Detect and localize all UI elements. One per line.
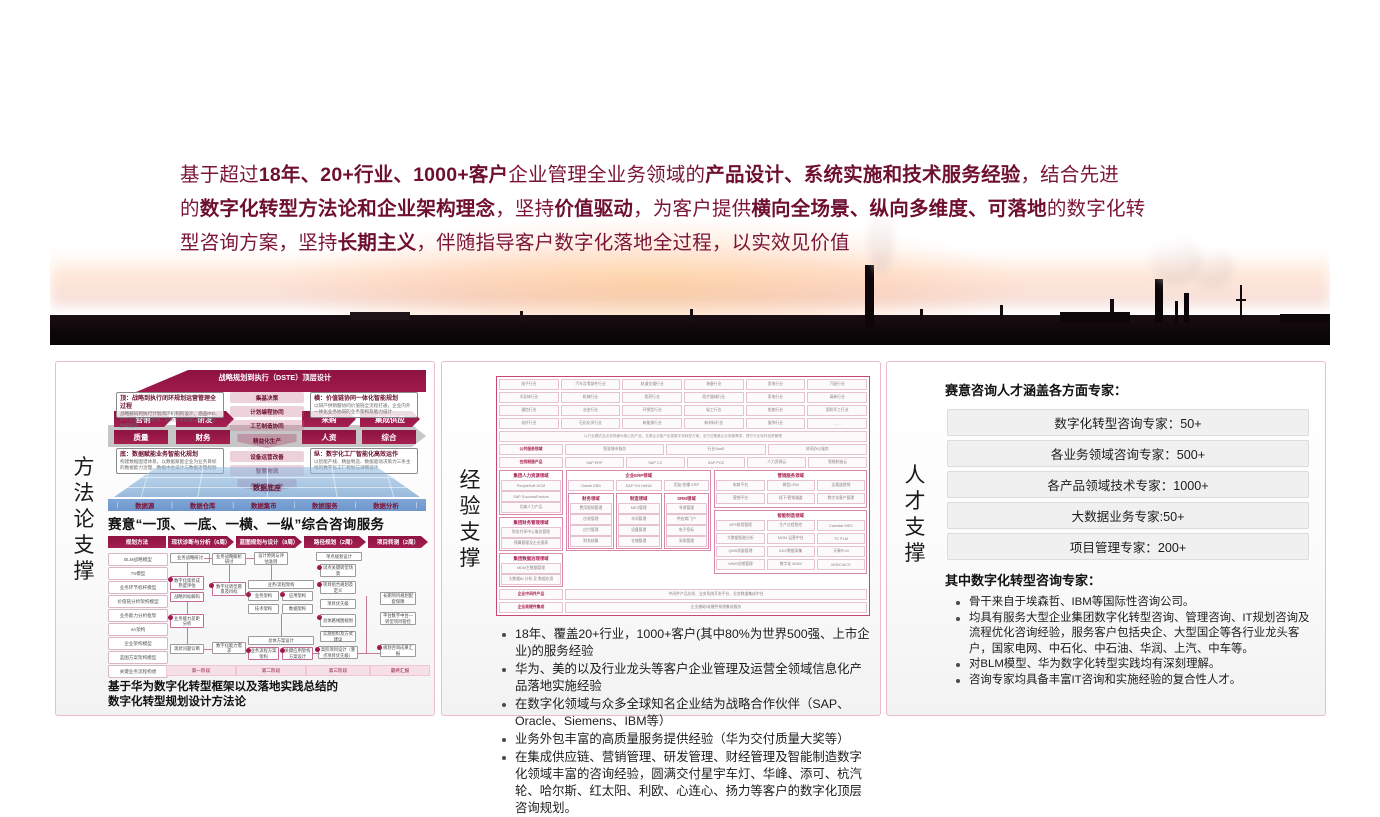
flow-marker-dot [280,648,285,653]
phase-header-roadmap: 路径规划（2周） [304,536,366,548]
method-item: 业务能力分析框架 [108,609,168,622]
hero-banner: 基于超过18年、20+行业、1000+客户企业管理全业务领域的产品设计、系统实施… [50,100,1330,345]
flow-marker-dot [168,577,173,582]
matrix-cell: MOM WCS [817,559,865,570]
flow-node: 业务/流程架构 [248,580,314,589]
matrix-cell: 行业SaaS [666,444,765,455]
matrix-cell: 仓储管理 [618,536,660,547]
talent-bullet-list: 骨干来自于埃森哲、IBM等国际性咨询公司。 均具有服务大型企业集团数字化转型咨询… [953,595,1317,688]
matrix-cell: SAP ERP [565,457,624,468]
list-item: 在集成供应链、营销管理、研发管理、财经管理及智能制造数字化领域丰富的咨询经验，圆… [498,749,872,817]
matrix-cell: EDC数据采集 [767,546,815,557]
row-label: 企业中间件产品 [499,589,563,600]
group-finance: 集团财务管理领域 财务共享中心服务管理 预算管理及企业报表 [499,517,563,551]
panel-experience-side-label: 经 验 支 撑 [448,467,492,571]
method-item: 业务环节标杆模型 [108,581,168,594]
industry-cell: 环保型行业 [622,405,682,416]
flow-node: 设计原则与评估准则 [254,552,288,565]
pill-decision: 集基决策 [230,392,304,403]
flow-node: 业务能力差距分析 [170,614,204,628]
flow-node: 总体路线图规划 [320,614,356,627]
matrix-cell: 应收管理 [570,514,612,525]
matrix-cell: 寻源管理 [666,503,708,514]
flow-node: 数字化能力需求 [212,642,246,654]
flow-marker-dot [280,592,285,597]
matrix-cell: SAP S/4 HANA [616,480,662,491]
panel-methodology-body: 战略规划到执行（DSTE）顶层设计 营销 研发 质量 财务 采购 集成供应 人资… [108,368,426,709]
matrix-cell: 微信CRM [767,480,815,491]
industrial-skyline-silhouette [50,283,1330,345]
matrix-cell: 中间件产品总线、业务系统开发平台、业务数据集成中台 [565,589,867,600]
matrix-cell: Camstar MES [817,520,865,531]
industry-cell: 通信行业 [499,405,559,416]
box-quality: 质量 [114,430,168,444]
panel-talent-side-label: 人 才 支 撑 [893,462,937,566]
stat-box-pm-experts: 项目管理专家：200+ [947,533,1309,560]
matrix-cell: 电商平台 [716,480,764,491]
data-capability-bar: |数据源 |数据仓库 |数据集市 |数据服务 |数据分析| [108,499,426,511]
planning-flow-diagram: 规划方法 现状诊断与分析（6周） 蓝图规划与设计（8周） 路径规划（2周） 项目… [108,536,426,676]
group-hr: 集团人力资源领域 PeopleSoft HCM SAP SuccessFacto… [499,470,563,515]
method-item: 蓝图方案架构模型 [108,651,168,664]
industry-cell: 轨道交通行业 [622,379,682,390]
list-item: 18年、覆盖20+行业，1000+客户(其中80%为世界500强、上市企业)的服… [498,626,872,660]
list-item: 咨询专家均具备丰富IT咨询和实施经验的复合性人才。 [953,673,1317,689]
flow-node: 业务架构 [248,591,279,601]
flow-marker-dot [315,647,320,652]
milestone-bar: 第二阶段 [236,665,306,676]
matrix-cell: 数字化 MOM [767,559,815,570]
hero-line-3: 型咨询方案，坚持长期主义，伴随指导客户数字化落地全过程，以实效见价值 [180,226,1190,260]
row-label: 公共服务领域 [499,444,563,455]
method-item: 关键业务流程构想 [108,665,168,678]
methodology-caption-1: 赛意“一顶、一底、一横、一纵”综合咨询服务 [108,513,426,533]
panel-talent: 人 才 支 撑 赛意咨询人才涵盖各方面专家： 数字化转型咨询专家：50+ 各业务… [886,361,1326,716]
matrix-cell: SAP SuccessFactors [501,491,561,502]
matrix-cell: MOM 运营中台 [767,533,815,544]
list-item: 华为、美的以及行业龙头等客户企业管理及运营全领域信息化产品落地实施经验 [498,661,872,695]
matrix-cell: 大数据BI 分析 及 数据应用 [501,574,561,585]
stat-box-product-tech-experts: 各产品领域技术专家：1000+ [947,471,1309,498]
flow-node: 规划咨询成果汇报 [380,644,416,657]
flow-marker-dot [317,615,322,620]
experience-bullet-list: 18年、覆盖20+行业，1000+客户(其中80%为世界500强、上市企业)的服… [498,626,872,817]
data-platform-label: 数据底座 [253,483,281,493]
flow-node: 现状问题诊断 [170,644,204,654]
matrix-cell: 预算管理及企业报表 [501,538,561,549]
flow-node: 应用架构 [282,591,313,601]
industry-cell: 国防军工行业 [807,405,867,416]
list-item: 业务外包丰富的高质量服务提供经验（华为交付质量大奖等） [498,731,872,748]
method-item: 7S模型 [108,567,168,580]
matrix-cell: 北森人力产品 [501,502,561,513]
row-label: 在线制造产品 [499,457,563,468]
flow-node: 试点关键转型场景 [320,564,356,577]
industry-cell: 化纤行业 [499,418,559,429]
data-platform-base: 数据底座 |数据源 |数据仓库 |数据集市 |数据服务 |数据分析| [108,467,426,511]
list-item: 在数字化领域与众多全球知名企业结为战略合作伙伴（SAP、Oracle、Sieme… [498,696,872,730]
flow-marker-dot [317,565,322,570]
flow-marker-dot [246,648,251,653]
milestone-bar: 第一阶段 [166,665,236,676]
matrix-cell: QMS质量管理 [716,546,764,557]
flow-node: 实施组织及方式建议 [320,631,356,642]
group-data-governance: 集团数据治理领域 MDM主数据管理 大数据BI 分析 及 数据应用 [499,553,563,587]
flow-node: 业务战略解析研讨 [212,553,246,565]
matrix-cell: 费用报销管理 [570,503,612,514]
data-item-analysis: 数据分析 [373,501,399,510]
flow-marker-dot [168,615,173,620]
milestone-bar: 最终汇报 [370,665,430,676]
flow-node: 项目优先级 [320,599,356,609]
note-top-left: 顶：战略到执行闭环规划运营管理全过程 战略解码到执行计划闭环机制的设计，涵盖IP… [116,392,224,418]
group-finance-domain: 财务领域 费用报销管理 应收管理 应付管理 财务核算 [568,493,614,549]
talent-heading-2: 其中数字化转型咨询专家： [945,570,1317,589]
matrix-cell: 生产过程智控 [767,520,815,531]
data-item-source: 数据源 [135,501,154,510]
matrix-cell: 全渠道营销 [817,480,865,491]
methodology-caption-2: 基于华为数字化转型框架以及落地实践总结的 数字化转型规划设计方法论 [108,680,426,710]
group-erp: 企业ERP领域 Oracle EBS SAP S/4 HANA 用友/金蝶 ER… [566,470,711,551]
industry-cell: 医药行业 [622,392,682,403]
flow-node: 高阶项目设计（重点项目优先级） [318,646,358,659]
matrix-cell: 车间管理 [618,514,660,525]
industry-cell: 新材料行业 [684,418,744,429]
hero-line-2: 的数字化转型方法论和企业架构理念，坚持价值驱动，为客户提供横向全场景、纵向多维度… [180,192,1190,226]
industry-cell: 医疗器械行业 [684,392,744,403]
hero-line-1: 基于超过18年、20+行业、1000+客户企业管理全业务领域的产品设计、系统实施… [180,158,1190,192]
matrix-cell: MDM主数据管理 [501,563,561,574]
matrix-cell: 财务核算 [570,536,612,547]
panel-experience: 经 验 支 撑 电子行业 汽车及零部件行业 轨道交通行业 装备行业 家电行业 汽… [441,361,881,716]
matrix-summary-band: 以行业模式及业务场景为核心的产品，支撑企业客户实现数字化转型方案，全方位覆盖企业… [499,431,867,442]
pill-process-sync: 工艺制造协同 [230,420,304,431]
group-manufacturing-domain: 制造领域 MES管理 车间管理 设备管理 仓储管理 [616,493,662,549]
industry-cell: 家电行业 [746,379,806,390]
group-marketing: 营销服务领域 电商平台 微信CRM 全渠道营销 营销平台 线下/营销通道 数字化… [714,470,867,508]
matrix-cell: 财务共享中心服务管理 [501,527,561,538]
matrix-cell: 用友/金蝶 ERP [664,480,710,491]
flow-node: 平台数字中台—转型项目管控 [380,612,416,625]
flow-node: 数字化转型愿景及目标 [212,582,246,596]
hero-headline: 基于超过18年、20+行业、1000+客户企业管理全业务领域的产品设计、系统实施… [180,158,1190,260]
flow-node: 关键应用架构方案设计 [282,647,313,660]
industry-row: 通信行业 冶金行业 环保型行业 轻工行业 船舶行业 国防军工行业 [499,405,867,416]
industry-cell: 石化化学行业 [561,418,621,429]
pill-lean-production: 精益化生产 [230,434,304,448]
industry-row: 半导体行业 机械行业 医药行业 医疗器械行业 家电行业 高新行业 [499,392,867,403]
flow-node: 数据架构 [282,604,313,614]
flow-node: 技术架构 [248,604,279,614]
data-item-service: 数据服务 [312,501,338,510]
phase-header-blueprint: 蓝图规划与设计（8周） [236,536,302,548]
matrix-cell: 智慧城市服务 [565,444,664,455]
box-general: 综合 [362,430,416,444]
method-item: 价值链分析架构模型 [108,595,168,608]
talent-heading-1: 赛意咨询人才涵盖各方面专家： [945,380,1317,399]
industry-row: 电子行业 汽车及零部件行业 轨道交通行业 装备行业 家电行业 汽配行业 [499,379,867,390]
list-item: 均具有服务大型企业集团数字化转型咨询、管理咨询、IT规划咨询及流程优化咨询经验，… [953,611,1317,658]
industry-cell: 机械行业 [561,392,621,403]
industry-cell: 服饰行业 [746,418,806,429]
pill-equipment: 设备运营改善 [230,451,304,462]
stat-box-dx-consultants: 数字化转型咨询专家：50+ [947,409,1309,436]
matrix-cell: 电子招标 [666,525,708,536]
flow-marker-dot [246,592,251,597]
box-finance: 财务 [176,430,230,444]
matrix-cell: PeopleSoft HCM [501,480,561,491]
flow-node: 单点规划设计 [316,552,362,561]
industry-cell: 冶金行业 [561,405,621,416]
milestone-bar: 第三阶段 [306,665,370,676]
matrix-cell: 营销平台 [716,493,764,504]
phase-header-methods: 规划方法 [108,536,166,548]
list-item: 对BLM模型、华为数字化转型实践均有深刻理解。 [953,657,1317,673]
industry-cell: 船舶行业 [746,405,806,416]
panel-experience-body: 电子行业 汽车及零部件行业 轨道交通行业 装备行业 家电行业 汽配行业 半导体行… [494,368,872,709]
method-item: BLM战略模型 [108,553,168,566]
matrix-cell: SAP CX [626,457,685,468]
group-smart-manufacturing: 智能制造领域 APS排程管理 生产过程智控 Camstar MES 大数据智能分… [714,510,867,574]
panel-talent-body: 赛意咨询人才涵盖各方面专家： 数字化转型咨询专家：50+ 各业务领域咨询专家：5… [939,368,1317,709]
flow-node: 业务流程方案架构 [248,647,279,660]
industry-cell: 家电行业 [746,392,806,403]
matrix-cell: 设备管理 [618,525,660,536]
matrix-cell: 大数据智能分析 [716,533,764,544]
data-item-warehouse: 数据仓库 [190,501,216,510]
data-platform-surface: 数据底座 [114,467,420,497]
method-item: 4A架构 [108,623,168,636]
matrix-cell: 应付管理 [570,525,612,536]
matrix-cell: 企业基础/软硬件系统集成服务 [565,602,867,613]
matrix-cell: 数字化客户管理 [817,493,865,504]
industry-cell: 高新行业 [807,392,867,403]
industry-cell: 装备行业 [684,379,744,390]
matrix-row-middleware: 企业中间件产品 中间件产品总线、业务系统开发平台、业务数据集成中台 [499,589,867,600]
industry-cell: …… [807,418,867,429]
row-label: 企业软硬件集成 [499,602,563,613]
industry-cell: 汽配行业 [807,379,867,390]
product-matrix-diagram: 电子行业 汽车及零部件行业 轨道交通行业 装备行业 家电行业 汽配行业 半导体行… [496,376,870,616]
panel-methodology-side-label: 方 法 论 支 撑 [62,454,106,584]
matrix-row-public-service: 公共服务领域 智慧城市服务 行业SaaS 协同办公服务 [499,444,867,455]
matrix-cell: 协同办公服务 [768,444,867,455]
matrix-row-online-products: 在线制造产品 SAP ERP SAP CX SAP PCE 人力资源云 智能制造… [499,457,867,468]
list-item: 骨干来自于埃森哲、IBM等国际性咨询公司。 [953,595,1317,611]
matrix-cell: MES管理 [618,503,660,514]
matrix-cell: TC PLM [817,533,865,544]
flow-node: 长期项目规划配套保障 [380,592,416,605]
phase-header-handover: 项目转测（2周） [368,536,428,548]
flow-node: 数字化现状成熟度评估 [170,576,204,590]
data-item-mart: 数据集市 [251,501,277,510]
note-top-right: 横：价值链协同一体化智能规划 以研产供销服协同价值链全流程打通，企业内外一体化业… [310,392,418,418]
matrix-cell: 供应商门户 [666,514,708,525]
matrix-cell: SAP PCE [687,457,746,468]
pill-plan-sync: 计划编程协同 [230,406,304,417]
phase-header-diagnosis: 现状诊断与分析（6周） [168,536,234,548]
dste-top-band: 战略规划到执行（DSTE）顶层设计 [136,370,426,392]
flow-node: 项目组合规划及定义 [320,581,356,594]
stat-box-business-consultants: 各业务领域咨询专家：500+ [947,440,1309,467]
panel-methodology: 方 法 论 支 撑 战略规划到执行（DSTE）顶层设计 营销 研发 质量 财务 … [55,361,435,716]
matrix-cell: 天喻PLM [817,546,865,557]
industry-cell: 半导体行业 [499,392,559,403]
matrix-cell: 智能制造云 [808,457,867,468]
matrix-cell: 采购管理 [666,536,708,547]
group-srm-domain: SRM领域 寻源管理 供应商门户 电子招标 采购管理 [664,493,710,549]
industry-cell: 电子行业 [499,379,559,390]
matrix-cell: Oracle EBS [568,480,614,491]
industry-cell: 轻工行业 [684,405,744,416]
flow-marker-dot [209,583,214,588]
matrix-cell: 线下/营销通道 [767,493,815,504]
dste-framework-diagram: 战略规划到执行（DSTE）顶层设计 营销 研发 质量 财务 采购 集成供应 人资… [108,368,426,511]
industry-cell: 新能源行业 [622,418,682,429]
flow-marker-dot [317,582,322,587]
matrix-cell: APS排程管理 [716,520,764,531]
flow-marker-dot [377,645,382,650]
industry-row: 化纤行业 石化化学行业 新能源行业 新材料行业 服饰行业 …… [499,418,867,429]
flow-node: 总体方案设计 [248,636,314,645]
box-hr: 人资 [302,430,356,444]
matrix-row-hardware: 企业软硬件集成 企业基础/软硬件系统集成服务 [499,602,867,613]
stat-box-bigdata-experts: 大数据业务专家:50+ [947,502,1309,529]
matrix-cell: 人力资源云 [747,457,806,468]
industry-cell: 汽车及零部件行业 [561,379,621,390]
method-item: 企业架构模型 [108,637,168,650]
flow-node: 战略目标解码 [170,592,204,602]
matrix-cell: WMS仓储管理 [716,559,764,570]
